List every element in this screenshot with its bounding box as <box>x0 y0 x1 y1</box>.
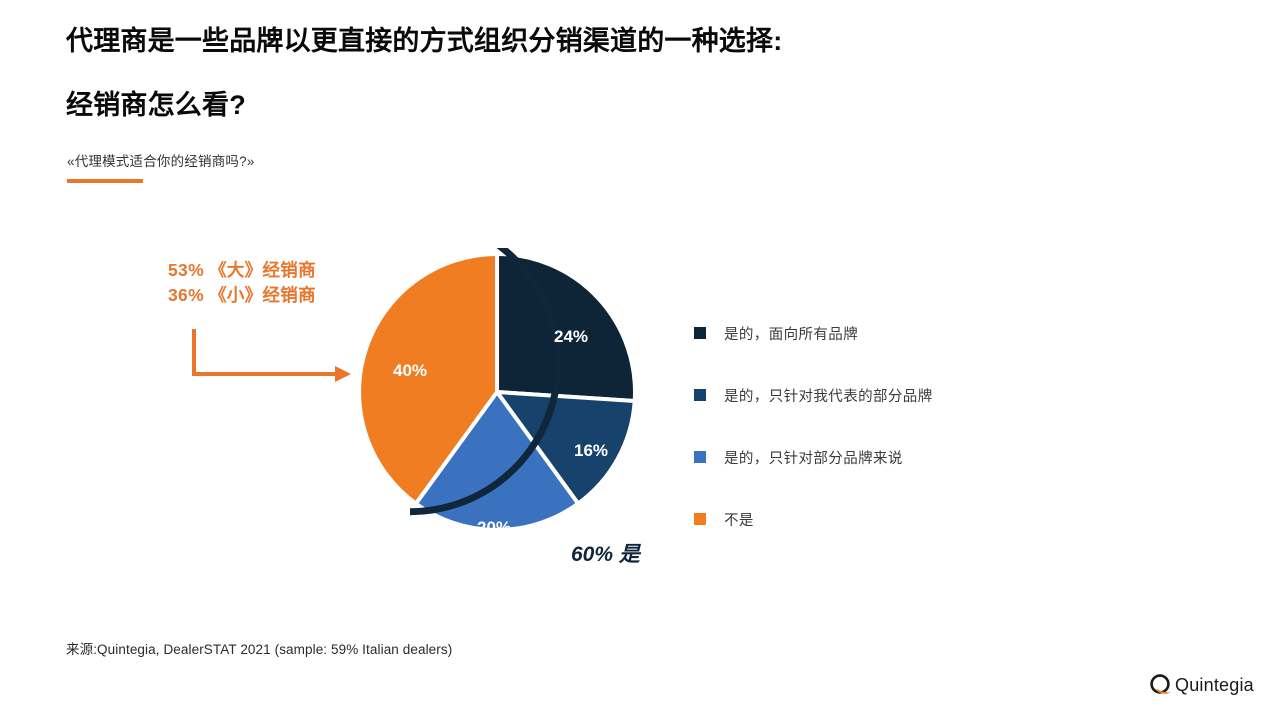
page-title: 代理商是一些品牌以更直接的方式组织分销渠道的一种选择: 经销商怎么看? <box>66 24 1126 122</box>
pie-chart-svg: 24% 16% 20% 40% <box>348 248 658 558</box>
legend-swatch-icon <box>694 389 706 401</box>
pie-label-40: 40% <box>393 361 427 380</box>
pie-label-24: 24% <box>554 327 588 346</box>
legend-item-yes-some-represented[interactable]: 是的，只针对我代表的部分品牌 <box>694 364 933 426</box>
yes-total-callout: 60% 是 <box>571 538 640 568</box>
slide-canvas: 代理商是一些品牌以更直接的方式组织分销渠道的一种选择: 经销商怎么看? «代理模… <box>0 0 1280 720</box>
source-note: 来源:Quintegia, DealerSTAT 2021 (sample: 5… <box>66 638 452 658</box>
pie-chart: 24% 16% 20% 40% <box>348 248 658 558</box>
legend-label: 是的，只针对我代表的部分品牌 <box>724 385 933 406</box>
pie-label-20: 20% <box>477 518 511 537</box>
elbow-arrow-right-icon <box>180 325 360 395</box>
legend-label: 是的，面向所有品牌 <box>724 323 858 344</box>
accent-rule-divider <box>67 179 143 183</box>
annotation-text: 53% 《大》经销商 36% 《小》经销商 <box>168 258 316 308</box>
subtitle: «代理模式适合你的经销商吗?» <box>67 150 255 170</box>
annotation-line-1: 53% 《大》经销商 <box>168 258 316 283</box>
annotation-line-2: 36% 《小》经销商 <box>168 283 316 308</box>
legend-label: 是的，只针对部分品牌来说 <box>724 447 903 468</box>
title-line-1: 代理商是一些品牌以更直接的方式组织分销渠道的一种选择: <box>66 24 1126 58</box>
legend-swatch-icon <box>694 327 706 339</box>
legend-swatch-icon <box>694 513 706 525</box>
legend-swatch-icon <box>694 451 706 463</box>
title-line-2: 经销商怎么看? <box>66 88 1126 122</box>
chart-legend: 是的，面向所有品牌 是的，只针对我代表的部分品牌 是的，只针对部分品牌来说 不是 <box>694 302 933 550</box>
legend-item-yes-some-brands[interactable]: 是的，只针对部分品牌来说 <box>694 426 933 488</box>
brand-logo: Quintegia <box>1148 672 1254 698</box>
legend-item-no[interactable]: 不是 <box>694 488 933 550</box>
legend-label: 不是 <box>724 509 754 530</box>
legend-item-yes-all-brands[interactable]: 是的，面向所有品牌 <box>694 302 933 364</box>
logo-text: Quintegia <box>1175 675 1254 696</box>
pie-label-16: 16% <box>574 441 608 460</box>
quintegia-q-icon <box>1148 672 1174 698</box>
